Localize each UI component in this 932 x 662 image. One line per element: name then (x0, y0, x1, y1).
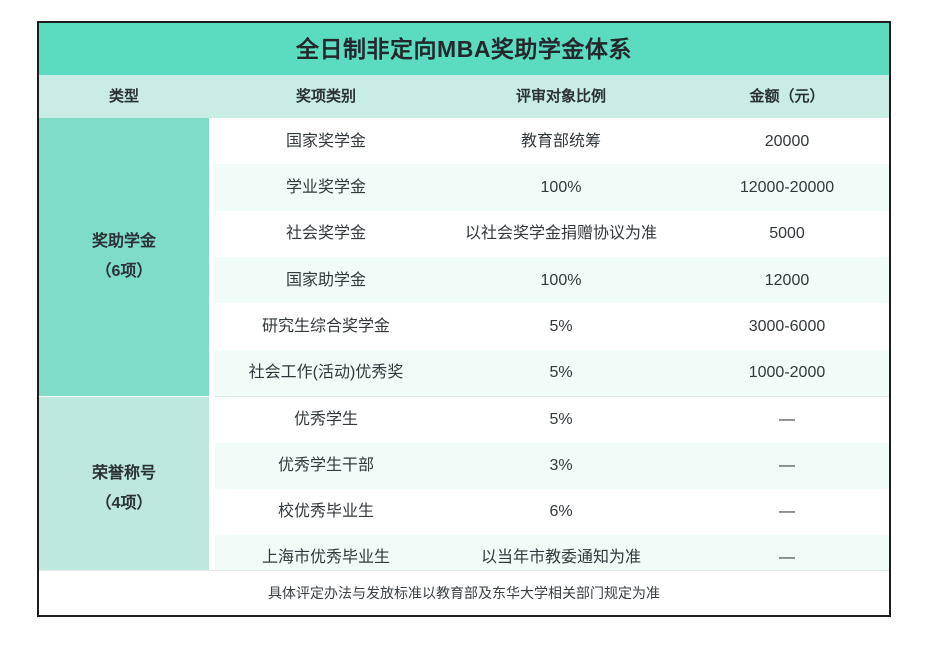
cell-ratio: 以当年市教委通知为准 (437, 548, 685, 567)
table-footnote-row: 具体评定办法与发放标准以教育部及东华大学相关部门规定为准 (39, 570, 889, 615)
group-rows-scholarship: 国家奖学金 教育部统筹 20000 学业奖学金 100% 12000-20000… (215, 118, 889, 396)
cell-ratio: 6% (437, 502, 685, 521)
cell-amount: 12000 (685, 271, 889, 290)
cell-ratio: 100% (437, 271, 685, 290)
table-row: 研究生综合奖学金 5% 3000-6000 (215, 303, 889, 349)
cell-award: 国家助学金 (215, 271, 437, 290)
cell-amount: 5000 (685, 224, 889, 243)
table-row: 社会奖学金 以社会奖学金捐赠协议为准 5000 (215, 211, 889, 257)
table-row: 优秀学生干部 3% — (215, 443, 889, 489)
cell-ratio: 100% (437, 178, 685, 197)
footnote-text: 具体评定办法与发放标准以教育部及东华大学相关部门规定为准 (268, 586, 660, 600)
cell-award: 学业奖学金 (215, 178, 437, 197)
cell-award: 优秀学生干部 (215, 456, 437, 475)
cell-ratio: 5% (437, 363, 685, 382)
cell-amount: — (685, 456, 889, 475)
group-count: （4项） (96, 489, 153, 519)
group-count: （6项） (96, 257, 153, 287)
page-root: 全日制非定向MBA奖助学金体系 类型 奖项类别 评审对象比例 金额（元） 奖助学… (0, 0, 932, 662)
cell-ratio: 5% (437, 317, 685, 336)
page-title: 全日制非定向MBA奖助学金体系 (296, 38, 632, 61)
cell-amount: 1000-2000 (685, 363, 889, 382)
cell-award: 研究生综合奖学金 (215, 317, 437, 336)
table-group-honor: 荣誉称号 （4项） 优秀学生 5% — 优秀学生干部 3% — (39, 397, 889, 581)
table-group-scholarship: 奖助学金 （6项） 国家奖学金 教育部统筹 20000 学业奖学金 100% 1… (39, 118, 889, 396)
cell-amount: — (685, 548, 889, 567)
cell-amount: 3000-6000 (685, 317, 889, 336)
table-title-bar: 全日制非定向MBA奖助学金体系 (39, 23, 889, 75)
table-header-row: 类型 奖项类别 评审对象比例 金额（元） (39, 75, 889, 118)
scholarship-table: 全日制非定向MBA奖助学金体系 类型 奖项类别 评审对象比例 金额（元） 奖助学… (37, 21, 891, 617)
column-header-amount: 金额（元） (685, 89, 889, 104)
table-row: 学业奖学金 100% 12000-20000 (215, 164, 889, 210)
cell-ratio: 以社会奖学金捐赠协议为准 (437, 224, 685, 243)
cell-award: 优秀学生 (215, 410, 437, 429)
cell-award: 社会工作(活动)优秀奖 (215, 363, 437, 382)
cell-award: 社会奖学金 (215, 224, 437, 243)
table-body: 奖助学金 （6项） 国家奖学金 教育部统筹 20000 学业奖学金 100% 1… (39, 118, 889, 570)
table-row: 国家助学金 100% 12000 (215, 257, 889, 303)
group-name: 奖助学金 (92, 227, 156, 257)
group-label-scholarship: 奖助学金 （6项） (39, 118, 209, 396)
table-row: 优秀学生 5% — (215, 397, 889, 443)
table-row: 校优秀毕业生 6% — (215, 489, 889, 535)
cell-ratio: 5% (437, 410, 685, 429)
cell-award: 上海市优秀毕业生 (215, 548, 437, 567)
cell-ratio: 教育部统筹 (437, 132, 685, 151)
group-name: 荣誉称号 (92, 459, 156, 489)
column-header-type: 类型 (39, 89, 209, 104)
cell-amount: — (685, 502, 889, 521)
group-label-honor: 荣誉称号 （4项） (39, 397, 209, 581)
cell-amount: 20000 (685, 132, 889, 151)
column-header-award: 奖项类别 (215, 89, 437, 104)
table-row: 国家奖学金 教育部统筹 20000 (215, 118, 889, 164)
cell-award: 校优秀毕业生 (215, 502, 437, 521)
column-header-ratio: 评审对象比例 (437, 89, 685, 104)
cell-amount: 12000-20000 (685, 178, 889, 197)
cell-ratio: 3% (437, 456, 685, 475)
group-rows-honor: 优秀学生 5% — 优秀学生干部 3% — 校优秀毕业生 6% — (215, 397, 889, 581)
table-row: 社会工作(活动)优秀奖 5% 1000-2000 (215, 350, 889, 396)
cell-amount: — (685, 410, 889, 429)
cell-award: 国家奖学金 (215, 132, 437, 151)
